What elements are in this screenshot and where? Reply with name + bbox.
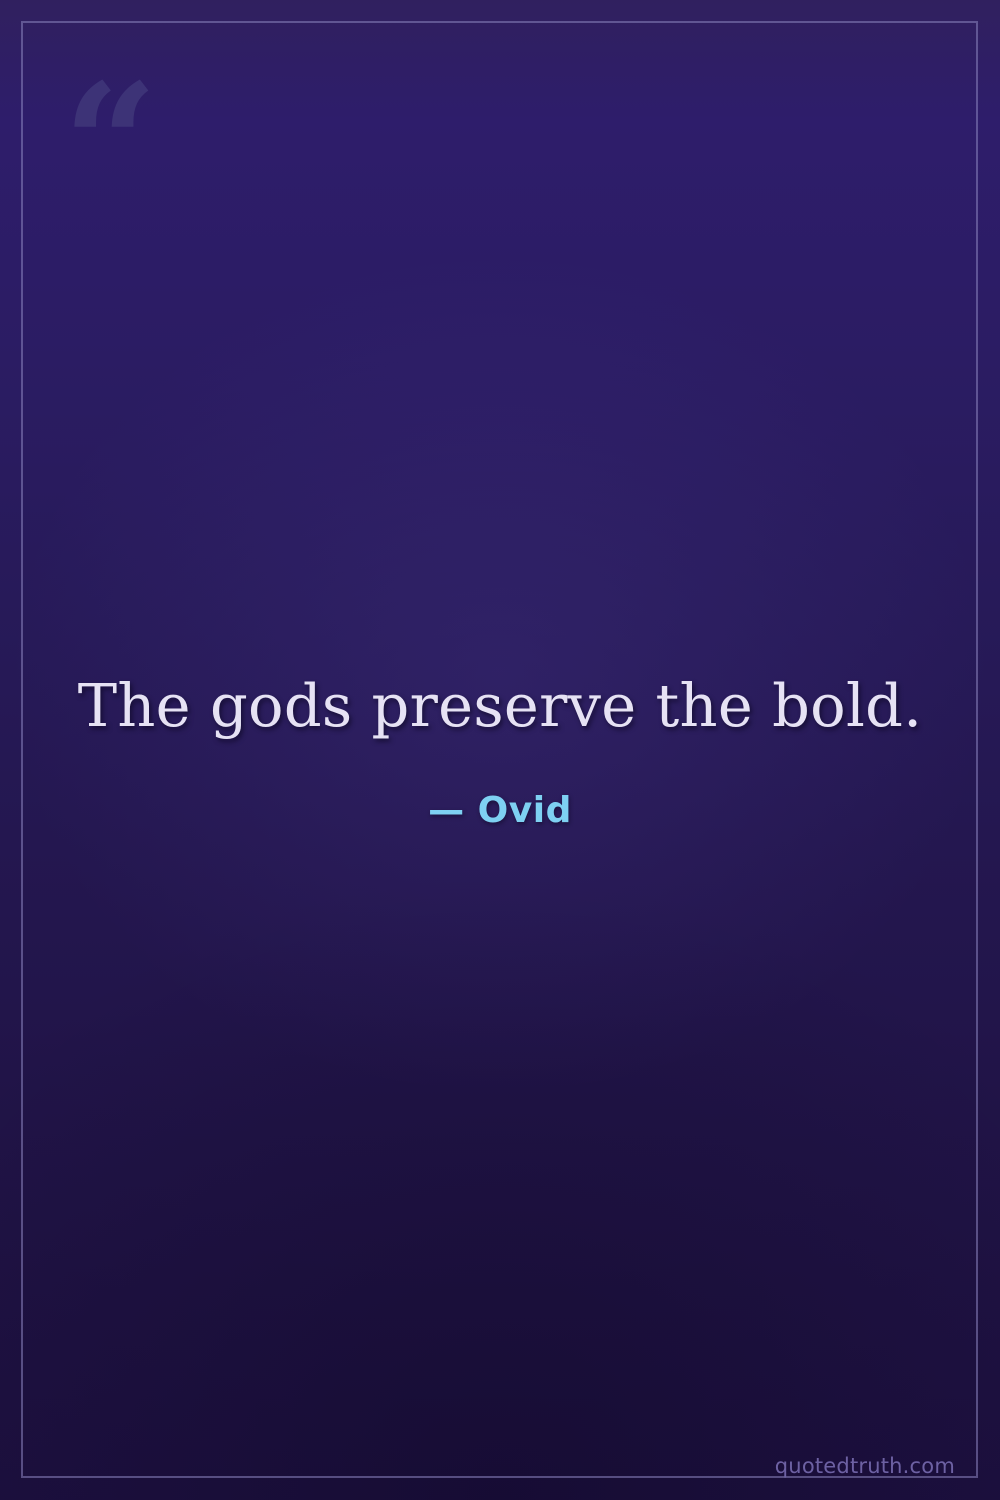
quote-content-block: The gods preserve the bold. — Ovid (0, 0, 1000, 1500)
quote-attribution: — Ovid (428, 790, 572, 831)
quote-text: The gods preserve the bold. (78, 669, 923, 743)
site-watermark: quotedtruth.com (775, 1454, 955, 1478)
quote-card: “ The gods preserve the bold. — Ovid quo… (0, 0, 1000, 1500)
